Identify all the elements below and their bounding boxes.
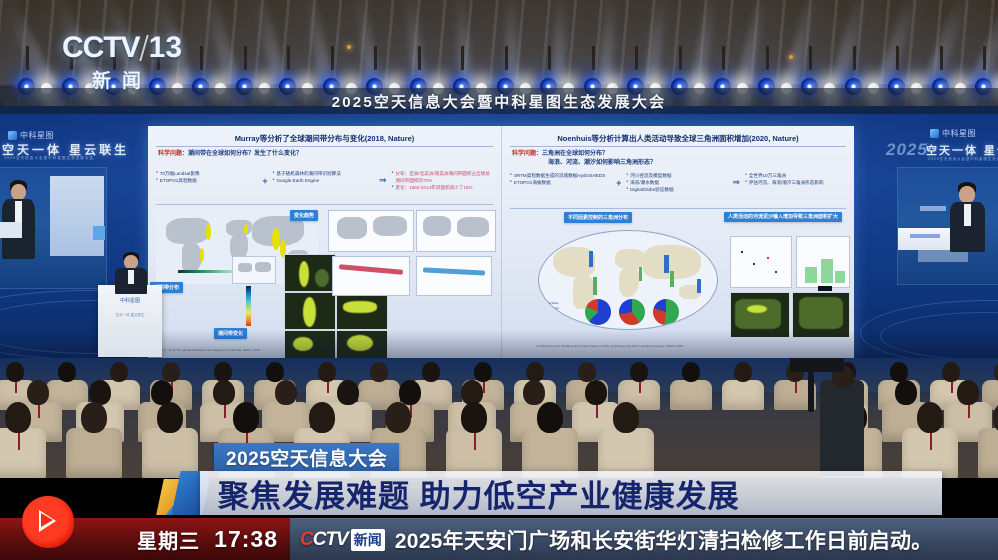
broadcast-camera [790, 358, 844, 372]
audience-head [682, 362, 700, 382]
question-label: 科学问题： [158, 151, 188, 157]
map-landmass [182, 243, 202, 273]
tile-feature [747, 305, 767, 313]
slide-right-question-row: 科学问题：三角洲在全球如何分布？ [512, 148, 608, 157]
ticker-cctv-logo: CCCTVCTV [300, 529, 348, 551]
ticker-headline: 2025年天安门广场和长安街华灯清扫检修工作日前启动。 [395, 525, 933, 555]
imag-slide-panel [50, 176, 104, 256]
ceiling-downlight [347, 45, 351, 49]
audience-lanyard [327, 382, 329, 393]
map-coastal-highlight [200, 248, 204, 262]
bullet-text: 海浪/潮水数据 [630, 179, 659, 186]
cctv-logo: CCTV [62, 31, 140, 64]
audience-area [0, 358, 998, 478]
truss-leg [722, 46, 725, 70]
scatter-plot-delta [730, 236, 792, 288]
map-landmass [166, 218, 210, 244]
brand-mark-icon [8, 131, 17, 140]
slide-bullet: 变化：1984-2014年间面积减少了16% [392, 184, 493, 191]
channel-sub-label: 新闻 [62, 66, 182, 93]
audience-head [613, 402, 639, 433]
bullet-text: 70万幅Landsat影像 [160, 170, 200, 177]
lower-third-headline: 聚焦发展难题 助力低空产业健康发展 [200, 471, 942, 515]
colorbar-legend [246, 286, 251, 326]
slide-bullet: 70万幅Landsat影像 [156, 170, 257, 177]
data-point [753, 263, 755, 265]
presentation-screen: Murray等分析了全球潮间带分布与变化(2018, Nature) 科学问题：… [148, 126, 854, 362]
truss-leg [26, 46, 29, 70]
truss-leg [766, 46, 769, 70]
bullet-text: 全世界10万三角洲 [749, 172, 786, 179]
data-point [775, 271, 777, 273]
slide-left-columns: 70万幅Landsat影像 ETOPO1高程数据 + 基于随机森林的潮间带识别算… [156, 170, 493, 191]
satellite-tile [284, 254, 336, 292]
slide-right: Noenhuis等分析计算出人类活动导致全球三角洲面积增加(2020, Natu… [501, 126, 854, 362]
bullet-text: SRTM高程数据生成的流域数据HydroSHEDS [514, 172, 606, 179]
imag-slide-accent [93, 226, 105, 240]
slide-bullet: 基于随机森林的潮间带识别算法 [273, 170, 374, 177]
map-delta-marker [697, 279, 701, 293]
speaker-head [11, 184, 26, 200]
imag-screen-left [0, 168, 106, 288]
podium-plate: 中科星图 [120, 297, 140, 304]
slide-bullet: 海浪/潮水数据 [626, 179, 727, 186]
pie-chart-river [585, 299, 611, 325]
imag-screen-right [898, 168, 998, 284]
audience-lanyard [224, 405, 226, 418]
map-landmass [238, 263, 252, 272]
audience-head [6, 362, 24, 382]
map-landmass [255, 262, 271, 272]
slide-tag-delta-distribution: 不同因素控制的三角洲分布 [564, 212, 632, 223]
audience-head [337, 380, 359, 405]
camera-tripod [808, 372, 814, 412]
truss-leg [461, 46, 464, 70]
map-coastal-highlight [244, 224, 248, 234]
audience-head [266, 362, 284, 382]
plot-bar [805, 267, 817, 283]
question-label: 科学问题： [512, 151, 542, 157]
audience-head [942, 362, 960, 382]
kicker-text: 2025空天信息大会 [226, 444, 387, 471]
audience-lanyard [483, 382, 485, 393]
truss-leg [548, 46, 551, 70]
channel-bug: CCTV13 新闻 [62, 31, 182, 93]
podium-plate-sub: 空天一体 星云联生 [116, 313, 145, 318]
map-delta-marker [670, 271, 674, 287]
audience-lanyard [795, 382, 797, 393]
plot-map-change-a [328, 210, 414, 252]
stage-mic [818, 286, 832, 291]
slide-left: Murray等分析了全球潮间带分布与变化(2018, Nature) 科学问题：… [148, 126, 501, 362]
audience-head [110, 362, 128, 382]
audience-head [474, 362, 492, 382]
audience-head [385, 402, 411, 433]
audience-lanyard [951, 382, 953, 393]
podium: 中科星图 空天一体 星云联生 [98, 285, 162, 357]
bullet-text: Google Earth Engine [276, 177, 319, 184]
question-text-2: 海浪、河流、潮汐如何影响三角洲形态？ [548, 157, 656, 166]
slide-bullet: 分布：亚洲/北美洲/南美洲潮间带面积占全球总潮间带面积的70% [392, 170, 493, 184]
truss-leg [505, 46, 508, 70]
audience-head [213, 380, 235, 405]
speaker-head [124, 255, 138, 269]
slide-bullet: Google Earth Engine [273, 177, 374, 184]
stage-speaker [114, 252, 148, 292]
imag-speaker-left [2, 178, 36, 270]
slide-left-question-row: 科学问题：潮间带在全球如何分布？发生了什么变化？ [158, 148, 302, 157]
audience-chair [66, 428, 122, 478]
slide-operator-arrow: ⇒ [378, 175, 388, 186]
bullet-text: 评估河流、海浪/潮汐三角洲形态影响 [749, 179, 824, 186]
slide-bullet: SRTM高程数据生成的流域数据HydroSHEDS [510, 172, 611, 179]
map-landmass [337, 217, 367, 239]
wall-brand-label: 中科星图 [942, 128, 976, 139]
slide-bullet: DigitalGlobe验证数据 [626, 186, 727, 193]
audience-head [370, 362, 388, 382]
audience-head [630, 362, 648, 382]
audience-head [58, 362, 76, 382]
speaker-shirt [964, 204, 971, 226]
world-map-deltas: ■ River■ Wave■ Tide [538, 230, 718, 330]
wall-brand-left: 中科星图 [8, 130, 54, 141]
speaker-laptop [0, 222, 22, 238]
play-triangle-inner [41, 513, 53, 527]
slide-left-col-2: 基于随机森林的潮间带识别算法 Google Earth Engine [273, 170, 374, 184]
ticker-weekday: 星期三 [137, 525, 200, 554]
audience-head [523, 380, 545, 405]
audience-head [157, 402, 183, 433]
bullet-text: 河川径流及模型数据 [630, 172, 671, 179]
plot-bar [835, 271, 845, 283]
pie-chart-tide [653, 299, 679, 325]
audience-lanyard [596, 405, 598, 418]
satellite-tile [284, 292, 336, 330]
plot-map-change-b [416, 210, 496, 252]
tile-feature [299, 261, 309, 287]
news-ticker: 星期三 17:38 CCCTVCTV 新闻 2025年天安门广场和长安街华灯清扫… [0, 518, 998, 560]
question-text: 潮间带在全球如何分布？发生了什么变化？ [188, 151, 302, 157]
slide-right-col-2: 河川径流及模型数据 海浪/潮水数据 DigitalGlobe验证数据 [626, 172, 727, 193]
play-circle-icon [22, 496, 74, 548]
satellite-tile [336, 292, 388, 330]
audience-head [162, 362, 180, 382]
audience-head [5, 402, 31, 433]
truss-leg [287, 46, 290, 70]
audience-head [275, 380, 297, 405]
audience-lanyard [38, 405, 40, 418]
ceiling-downlight [789, 55, 793, 59]
wall-brand-label: 中科星图 [20, 130, 54, 141]
audience-head [422, 362, 440, 382]
audience-chair [0, 428, 46, 478]
trend-plot-blue [416, 256, 492, 296]
audience-head [318, 362, 336, 382]
map-delta-marker [664, 255, 669, 273]
tile-feature [735, 299, 781, 329]
ticker-logo: CCCTVCTV 新闻 [300, 529, 385, 551]
truss-leg [244, 46, 247, 70]
slide-right-columns: SRTM高程数据生成的流域数据HydroSHEDS ETOPO1海拔数据 + 河… [510, 172, 846, 193]
tile-feature [315, 269, 329, 287]
tile-feature [343, 301, 377, 313]
lower-third-kicker: 2025空天信息大会 [214, 443, 399, 471]
audience-head [27, 380, 49, 405]
slide-operator-plus: + [615, 178, 622, 188]
truss-leg [853, 46, 856, 70]
slide-operator-arrow: ⇒ [731, 177, 741, 188]
audience-head [461, 402, 487, 433]
slide-tag-trend: 变化趋势 [290, 210, 318, 221]
camera-operator [820, 380, 864, 476]
audience-head [585, 380, 607, 405]
truss-leg [983, 46, 986, 70]
imag-speaker-right [950, 182, 986, 252]
truss-leg [896, 46, 899, 70]
truss-leg [418, 46, 421, 70]
headline-text: 聚焦发展难题 助力低空产业健康发展 [218, 471, 740, 516]
wall-slogan-sub-left: 2025空天信息大会暨中科星图生态发展大会 [4, 156, 94, 161]
truss-leg [592, 46, 595, 70]
ternary-plot-delta [796, 236, 850, 288]
audience-head [537, 402, 563, 433]
slide-left-col-1: 70万幅Landsat影像 ETOPO1高程数据 [156, 170, 257, 184]
slide-bullet: 评估河流、海浪/潮汐三角洲形态影响 [745, 179, 846, 186]
audience-lanyard [639, 382, 641, 393]
bullet-text: ETOPO1海拔数据 [514, 179, 551, 186]
map-legend: ■ River■ Wave■ Tide [549, 301, 559, 315]
map-landmass [423, 216, 451, 236]
map-delta-marker [593, 277, 597, 295]
truss-leg [374, 46, 377, 70]
data-point [741, 251, 743, 253]
map-delta-marker [639, 267, 642, 281]
truss-leg [809, 46, 812, 70]
tile-feature [799, 297, 843, 329]
slide-left-col-3: 分布：亚洲/北美洲/南美洲潮间带面积占全球总潮间带面积的70% 变化：1984-… [392, 170, 493, 191]
truss-leg [635, 46, 638, 70]
inset-map [232, 256, 276, 284]
audience-lanyard [18, 433, 20, 450]
truss-leg [200, 46, 203, 70]
speaker-head [959, 186, 975, 203]
audience-head [917, 402, 943, 433]
ticker-body: CCCTVCTV 新闻 2025年天安门广场和长安街华灯清扫检修工作日前启动。 [290, 518, 998, 560]
slide-left-title: Murray等分析了全球潮间带分布与变化(2018, Nature) [156, 133, 493, 147]
wall-slogan-sub-right: 2025空天信息大会暨中科星图生态发展大会 [928, 156, 998, 161]
plot-bar [821, 259, 833, 283]
trend-line [423, 267, 485, 275]
truss-leg [940, 46, 943, 70]
slide-right-col-3: 全世界10万三角洲 评估河流、海浪/潮汐三角洲形态影响 [745, 172, 846, 186]
map-landmass [615, 249, 645, 269]
audience-chair [722, 380, 764, 410]
imag-podium-plate [910, 234, 940, 238]
slide-right-title: Noenhuis等分析计算出人类活动导致全球三角洲面积增加(2020, Natu… [510, 133, 846, 147]
truss-leg [331, 46, 334, 70]
bullet-text: 分布：亚洲/北美洲/南美洲潮间带面积占全球总潮间带面积的70% [395, 170, 493, 184]
audience-lanyard [968, 405, 970, 418]
audience-lanyard [474, 433, 476, 450]
audience-head [233, 402, 259, 433]
map-coastal-highlight [272, 228, 280, 250]
map-coastal-highlight [206, 224, 211, 240]
slide-operator-plus: + [261, 176, 268, 186]
trend-line [339, 264, 403, 275]
tile-feature [303, 297, 316, 327]
slide-bullet: ETOPO1高程数据 [156, 177, 257, 184]
audience-head [309, 402, 335, 433]
pie-chart-wave [619, 299, 645, 325]
audience-head [734, 362, 752, 382]
map-landmass [619, 267, 639, 297]
trend-plot-red [332, 256, 410, 296]
audience-head [399, 380, 421, 405]
audience-lanyard [15, 382, 17, 393]
speaker-shirt [128, 270, 134, 284]
bullet-text: 变化：1984-2014年间面积减少了16% [395, 184, 472, 191]
truss-leg [679, 46, 682, 70]
audience-chair [978, 428, 998, 478]
bullet-text: 基于随机森林的潮间带识别算法 [276, 170, 340, 177]
channel-bug-row: CCTV13 [62, 31, 182, 65]
slide-right-col-1: SRTM高程数据生成的流域数据HydroSHEDS ETOPO1海拔数据 [510, 172, 611, 186]
wall-brand-right: 中科星图 [930, 128, 976, 139]
slide-bullet: 河川径流及模型数据 [626, 172, 727, 179]
audience-head [957, 380, 979, 405]
wall-year-right: 2025 [886, 140, 928, 160]
slide-bullet: ETOPO1海拔数据 [510, 179, 611, 186]
data-point [767, 257, 769, 259]
slide-bullet: 全世界10万三角洲 [745, 172, 846, 179]
broadcast-frame: 中科星图 空天一体 星云联生 2025空天信息大会暨中科星图生态发展大会 中科星… [0, 0, 998, 560]
bullet-text: ETOPO1高程数据 [160, 177, 197, 184]
map-landmass [457, 217, 489, 237]
map-delta-marker [589, 251, 593, 267]
audience-head [81, 402, 107, 433]
slide-tag-human-impact: 人类活动的河流泥沙输入增加导致三角洲面积扩大 [724, 212, 842, 222]
imag-caption-strip [920, 206, 946, 211]
slide-left-divider [156, 204, 493, 205]
audience-chair [670, 380, 712, 410]
map-landmass [373, 216, 407, 236]
brand-mark-icon [930, 129, 939, 138]
audience-lanyard [930, 433, 932, 450]
slide-right-divider [510, 208, 846, 209]
audience-head [895, 380, 917, 405]
ticker-news-badge: 新闻 [351, 529, 385, 551]
bullet-text: DigitalGlobe验证数据 [630, 186, 673, 193]
ticker-clock: 17:38 [214, 526, 278, 553]
channel-number: 13 [149, 31, 182, 64]
stage-banner-text: 2025空天信息大会暨中科星图生态发展大会 [332, 91, 667, 112]
bug-divider-icon [139, 35, 148, 61]
